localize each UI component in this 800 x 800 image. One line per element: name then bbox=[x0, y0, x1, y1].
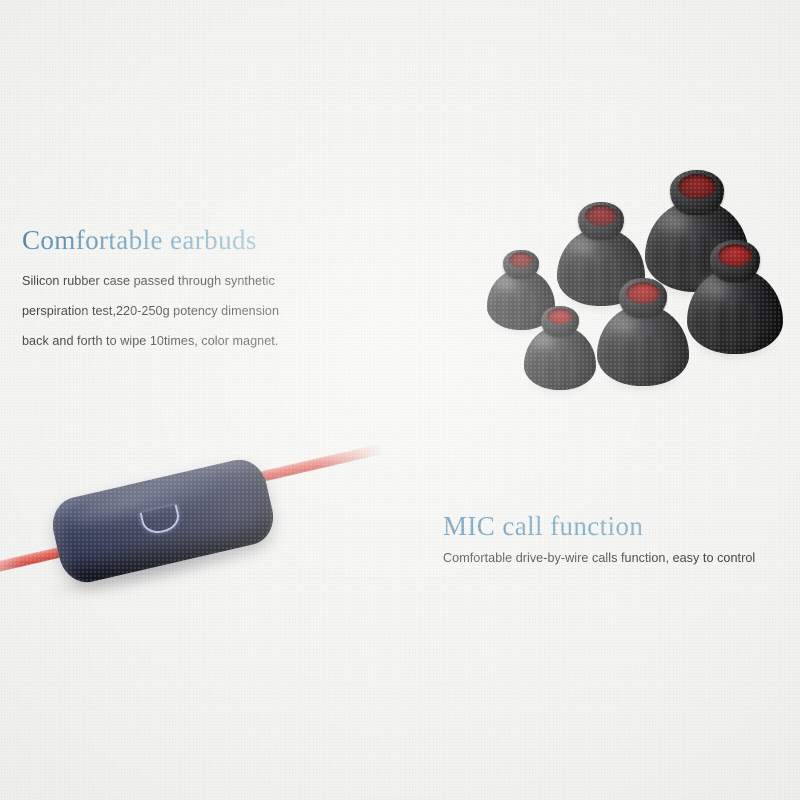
tip-bore bbox=[678, 174, 715, 199]
ear-tips-photo bbox=[0, 0, 800, 800]
inline-remote-photo bbox=[0, 430, 380, 650]
tip-bore bbox=[718, 244, 753, 267]
tip-bore bbox=[626, 282, 659, 304]
ear-tip-tip-center-low bbox=[597, 276, 689, 386]
tip-ribs bbox=[604, 336, 681, 383]
ear-tip-tip-right-mid bbox=[687, 238, 783, 354]
ear-tip-tip-small-bottom bbox=[524, 304, 596, 390]
tip-ribs bbox=[695, 301, 776, 351]
tip-ribs bbox=[530, 351, 590, 388]
